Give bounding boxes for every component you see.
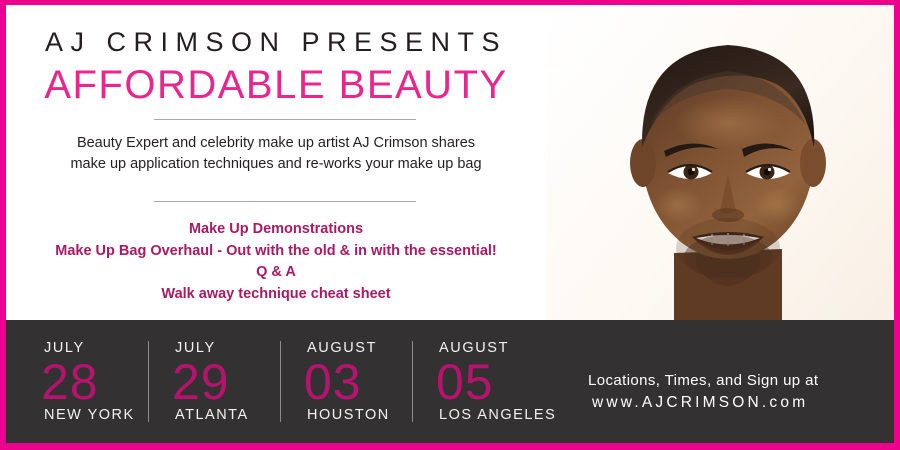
program-list: Make Up Demonstrations Make Up Bag Overh… — [20, 219, 532, 305]
signup-callout: Locations, Times, and Sign up at www.AJC… — [588, 370, 818, 414]
tour-day: 28 — [41, 358, 148, 407]
page-title: AFFORDABLE BEAUTY — [6, 63, 546, 108]
tour-day: 03 — [304, 358, 412, 407]
tour-band: JULY 28 NEW YORK JULY 29 ATLANTA AUGUST … — [6, 320, 894, 443]
content-panel: AJ CRIMSON PRESENTS AFFORDABLE BEAUTY Be… — [6, 5, 546, 320]
tour-date-new-york: JULY 28 NEW YORK — [32, 341, 148, 422]
tour-city: LOS ANGELES — [439, 408, 544, 423]
program-item: Make Up Bag Overhaul - Out with the old … — [20, 241, 532, 263]
tour-date-houston: AUGUST 03 HOUSTON — [280, 341, 412, 422]
program-item: Q & A — [20, 262, 532, 284]
tour-day: 05 — [436, 358, 544, 407]
promo-banner: AJ CRIMSON PRESENTS AFFORDABLE BEAUTY Be… — [0, 0, 900, 450]
tour-date-list: JULY 28 NEW YORK JULY 29 ATLANTA AUGUST … — [32, 320, 544, 443]
kicker-text: AJ CRIMSON PRESENTS — [6, 27, 546, 58]
tour-date-atlanta: JULY 29 ATLANTA — [148, 341, 280, 422]
program-item: Walk away technique cheat sheet — [20, 284, 532, 306]
tour-city: HOUSTON — [307, 408, 412, 423]
program-item: Make Up Demonstrations — [20, 219, 532, 241]
website-link[interactable]: www.AJCRIMSON.com — [588, 392, 818, 414]
tour-city: ATLANTA — [175, 408, 280, 423]
tour-city: NEW YORK — [44, 408, 148, 423]
tour-date-los-angeles: AUGUST 05 LOS ANGELES — [412, 341, 544, 422]
divider-bottom — [154, 201, 416, 202]
tour-day: 29 — [172, 358, 280, 407]
blurb-line-1: Beauty Expert and celebrity make up arti… — [36, 133, 516, 154]
blurb-line-2: make up application techniques and re-wo… — [36, 154, 516, 175]
blurb-text: Beauty Expert and celebrity make up arti… — [36, 133, 516, 175]
signup-label: Locations, Times, and Sign up at — [588, 370, 818, 392]
divider-top — [154, 119, 416, 120]
